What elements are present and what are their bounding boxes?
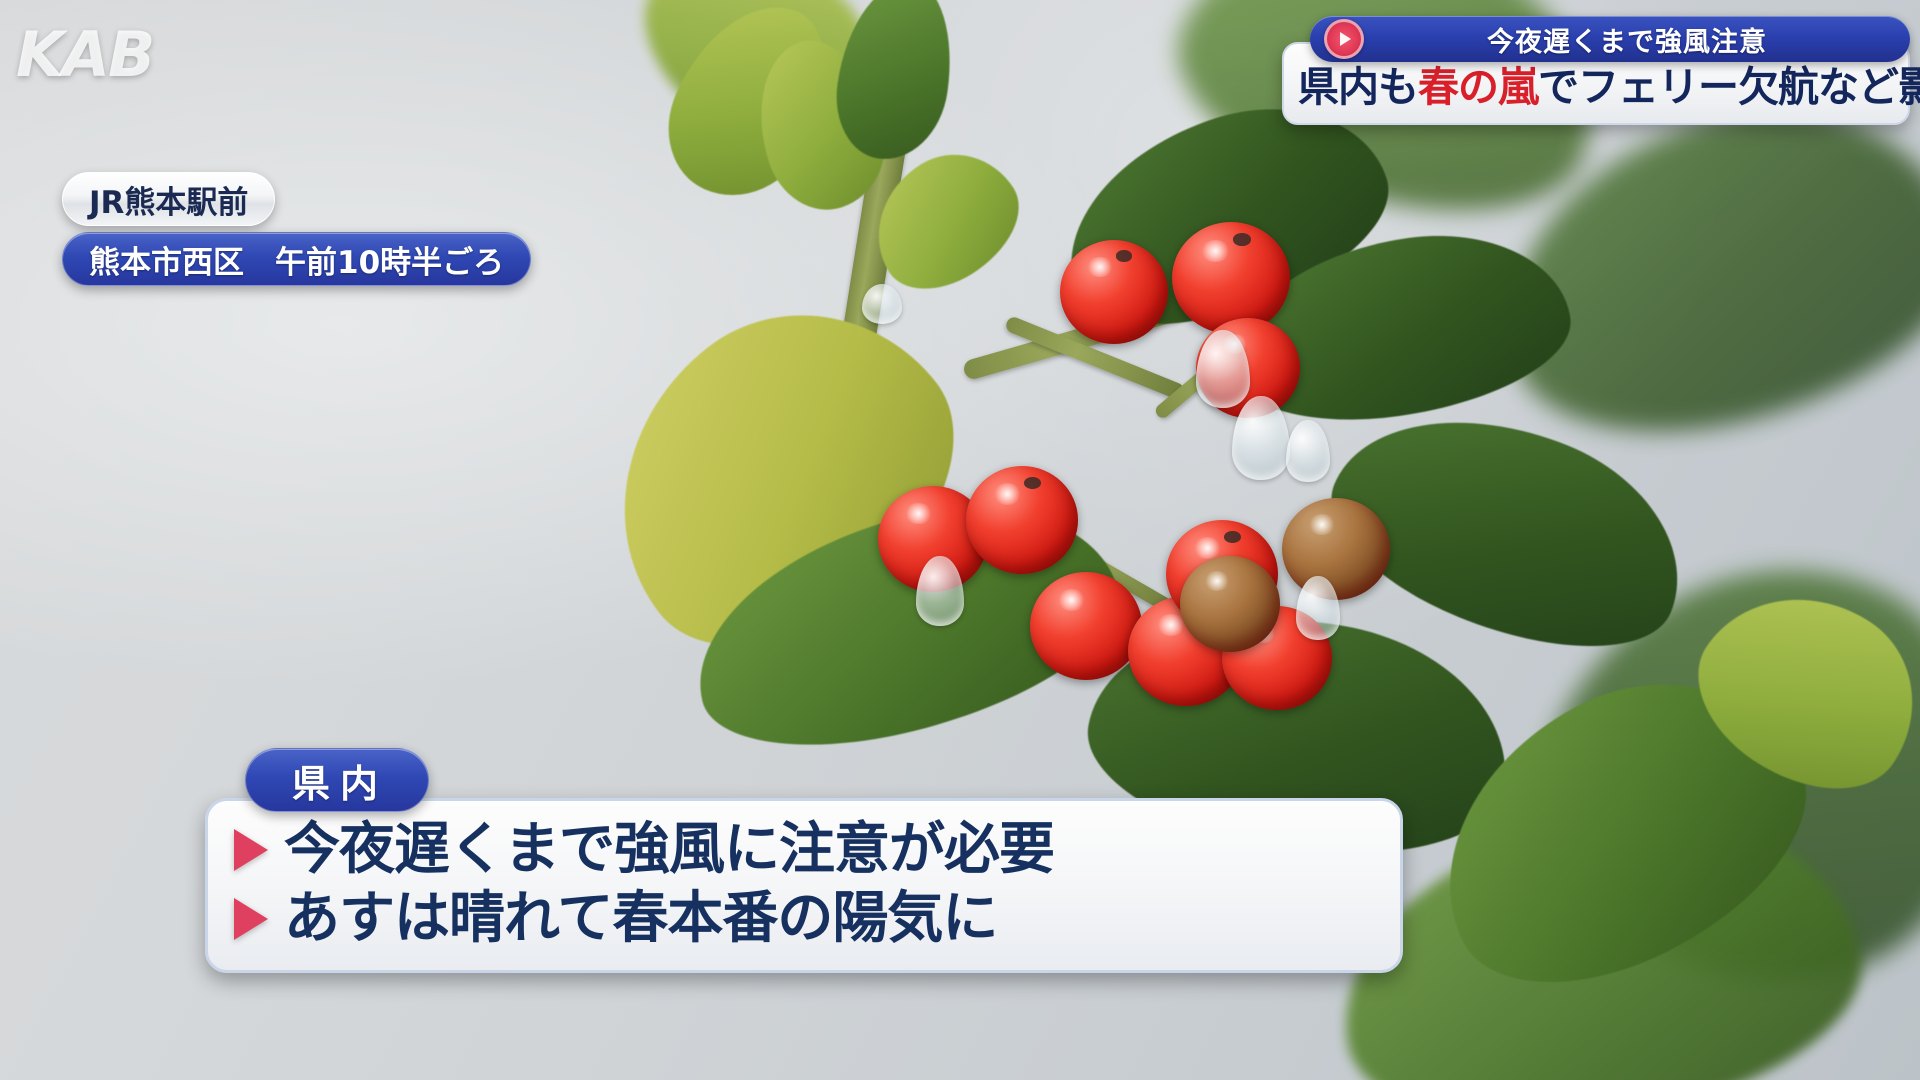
headline-part-before: 県内も <box>1298 63 1418 111</box>
kab-logo: KAB <box>16 18 153 91</box>
triangle-right-icon <box>234 829 268 871</box>
location-detail-label: 熊本市西区 午前10時半ごろ <box>89 237 504 282</box>
headline-kicker-pill: 今夜遅くまで強風注意 <box>1310 16 1910 62</box>
berry <box>1030 572 1142 680</box>
berry <box>1172 222 1290 334</box>
bullet-text: あすは晴れて春本番の陽気に <box>284 888 997 951</box>
bottom-panel-box: 今夜遅くまで強風に注意が必要 あすは晴れて春本番の陽気に <box>205 798 1403 973</box>
headline-kicker-label: 今夜遅くまで強風注意 <box>1364 20 1890 59</box>
bullet-row: 今夜遅くまで強風に注意が必要 <box>234 819 1374 882</box>
headline-text: 県内も春の嵐でフェリー欠航など影響 <box>1298 66 1894 109</box>
berry <box>966 466 1078 574</box>
broadcast-screen: KAB JR熊本駅前 熊本市西区 午前10時半ごろ 今夜遅くまで強風注意 県内も… <box>0 0 1920 1080</box>
berry <box>1060 240 1168 344</box>
play-circle-icon <box>1324 19 1364 59</box>
bottom-panel-tab: 県内 <box>245 748 429 812</box>
headline-part-highlight: 春の嵐 <box>1418 63 1538 111</box>
bottom-panel-tab-label: 県内 <box>286 753 388 808</box>
water-droplet <box>862 284 902 324</box>
berry-brown <box>1282 498 1390 600</box>
headline-part-after: でフェリー欠航など影響 <box>1538 63 1920 111</box>
location-place-label: JR熊本駅前 <box>89 177 248 222</box>
triangle-right-icon <box>234 898 268 940</box>
location-place-pill: JR熊本駅前 <box>62 172 275 226</box>
location-detail-pill: 熊本市西区 午前10時半ごろ <box>62 232 531 286</box>
berry-brown <box>1180 556 1280 652</box>
bullet-text: 今夜遅くまで強風に注意が必要 <box>284 819 1054 882</box>
bullet-row: あすは晴れて春本番の陽気に <box>234 888 1374 951</box>
top-headline-banner: 今夜遅くまで強風注意 県内も春の嵐でフェリー欠航など影響 <box>1282 16 1910 125</box>
